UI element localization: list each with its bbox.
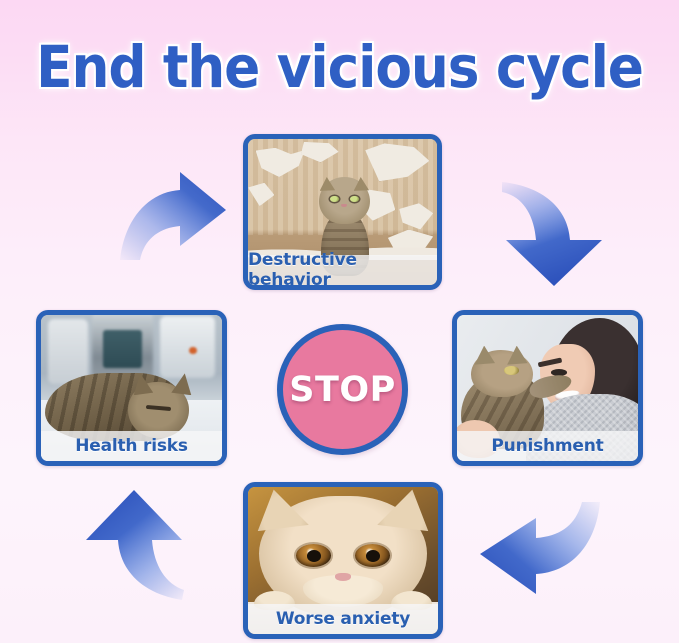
kitten-eye-left — [330, 196, 339, 202]
cycle-card-caption: Destructive behavior — [248, 255, 437, 285]
cycle-card-destructive-behavior[interactable]: Destructive behavior — [243, 134, 442, 290]
curved-arrow-down-icon — [498, 178, 608, 290]
curved-arrow-left-icon — [478, 500, 602, 596]
cat-pupil-left — [307, 550, 321, 562]
page-title: End the vicious cycle — [27, 38, 652, 96]
cat-eye-right — [355, 544, 390, 567]
kitten-head — [319, 177, 370, 223]
medical-monitor — [48, 319, 88, 383]
vicious-cycle-infographic: End the vicious cycle — [0, 0, 679, 643]
curved-arrow-up-icon — [82, 486, 186, 602]
kitten-nose — [341, 204, 347, 207]
kitten-ear-right — [354, 177, 369, 191]
cycle-card-punishment[interactable]: Punishment — [452, 310, 643, 466]
kitten-ear-left — [320, 177, 335, 191]
cycle-card-caption: Worse anxiety — [248, 604, 438, 634]
cat-eye — [504, 366, 518, 375]
cycle-card-health-risks[interactable]: Health risks — [36, 310, 227, 466]
stop-badge[interactable]: STOP — [277, 324, 408, 455]
monitor-screen — [103, 330, 143, 368]
cat-pupil-right — [366, 550, 380, 562]
kitten-eye-right — [350, 196, 359, 202]
monitor-indicator-light — [189, 347, 196, 354]
cycle-card-caption: Punishment — [457, 431, 638, 461]
curved-arrow-right-icon — [118, 168, 230, 262]
cycle-card-worse-anxiety[interactable]: Worse anxiety — [243, 482, 443, 639]
cat-eye-left — [296, 544, 331, 567]
cycle-card-caption: Health risks — [41, 431, 222, 461]
medical-monitor — [160, 316, 214, 377]
stop-label: STOP — [289, 370, 396, 410]
